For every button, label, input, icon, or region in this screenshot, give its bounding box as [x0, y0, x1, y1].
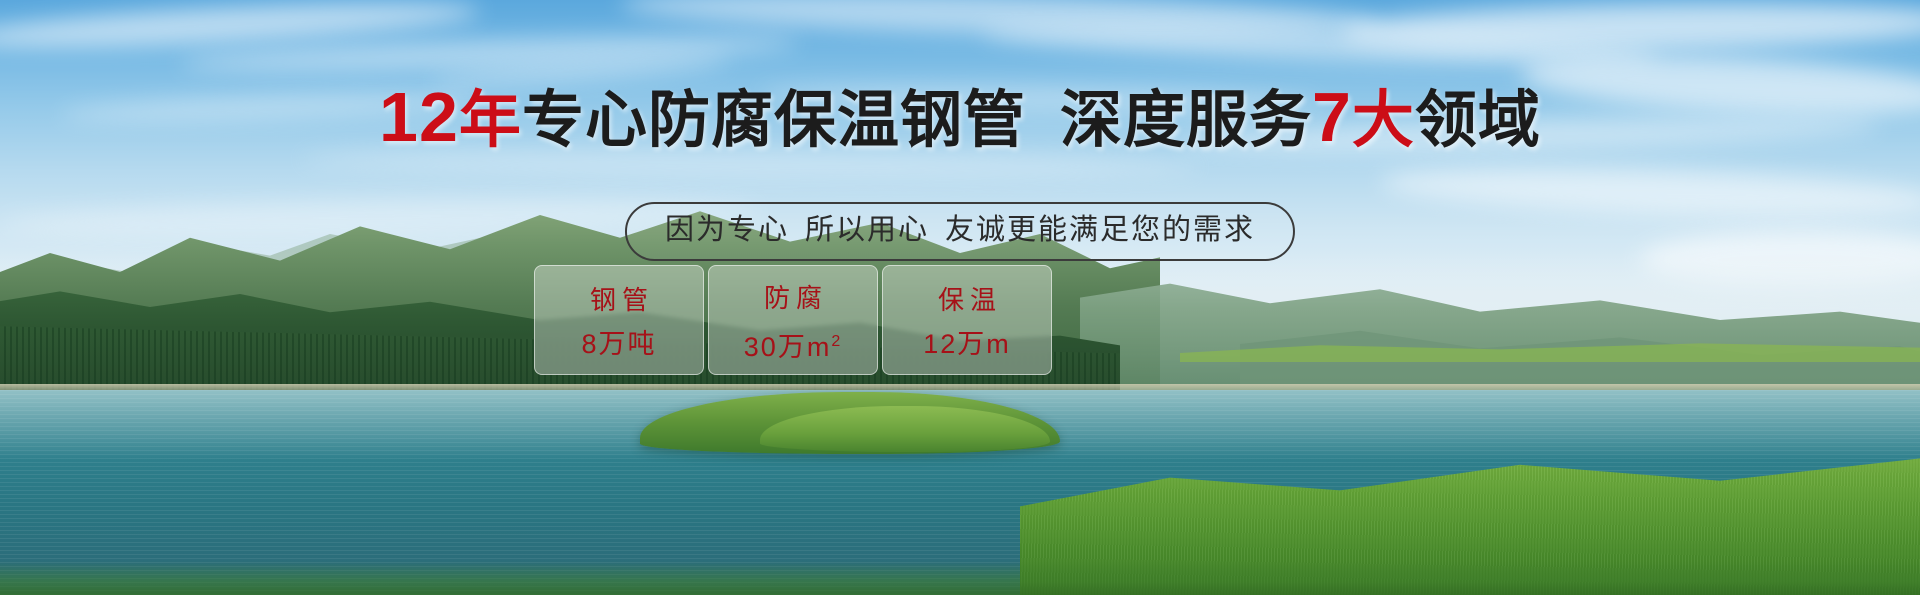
stat-card-value-text: 8万吨	[581, 329, 656, 359]
stat-card-group: 钢管 8万吨 防腐 30万m2 保温 12万m	[534, 265, 1052, 375]
subtitle-part-3: 友诚更能满足您的需求	[945, 214, 1255, 246]
subtitle-part-1: 因为专心	[665, 214, 789, 246]
stat-card-value-text: 30万m	[744, 332, 832, 362]
headline-years-number: 12	[379, 78, 459, 156]
headline-fields-unit: 大	[1352, 86, 1415, 155]
stat-card-value-text: 12万m	[923, 329, 1011, 359]
subtitle-pill: 因为专心所以用心友诚更能满足您的需求	[625, 202, 1295, 261]
stat-card-title: 保温	[932, 285, 1002, 315]
stat-card-title: 钢管	[584, 285, 654, 315]
headline-main-text: 专心防腐保温钢管	[522, 86, 1026, 155]
headline-years-unit: 年	[459, 86, 522, 155]
bottom-grass-gradient	[0, 561, 1920, 595]
stat-card-value: 8万吨	[581, 329, 656, 359]
hero-banner: 12年专心防腐保温钢管深度服务7大领域 因为专心所以用心友诚更能满足您的需求 钢…	[0, 0, 1920, 595]
stat-card-title: 防腐	[758, 283, 828, 313]
stat-card-anticorrosion: 防腐 30万m2	[708, 265, 878, 375]
subtitle-part-2: 所以用心	[805, 214, 929, 246]
headline-fields-number: 7	[1312, 78, 1352, 156]
stat-card-insulation: 保温 12万m	[882, 265, 1052, 375]
stat-card-value: 30万m2	[744, 327, 842, 362]
headline-service-text: 深度服务	[1060, 86, 1312, 155]
stat-card-value-superscript: 2	[831, 333, 842, 350]
stat-card-value: 12万m	[923, 329, 1011, 359]
headline-fields-tail: 领域	[1415, 86, 1541, 155]
banner-headline: 12年专心防腐保温钢管深度服务7大领域	[0, 86, 1920, 152]
stat-card-steel-pipe: 钢管 8万吨	[534, 265, 704, 375]
